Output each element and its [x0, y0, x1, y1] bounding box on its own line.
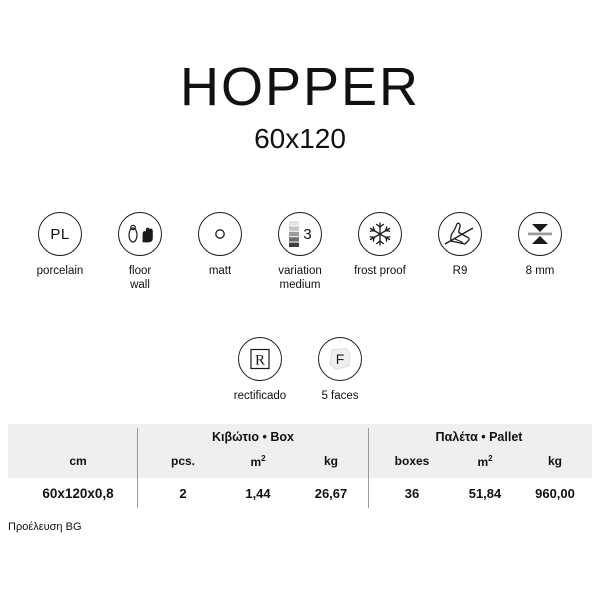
feature-icons-row-secondary: R rectificado F 5 faces — [0, 337, 600, 403]
pallet-m2-exponent: 2 — [488, 454, 492, 463]
feature-icons-row-primary: PL porcelain floor wall matt — [0, 212, 600, 292]
feature-porcelain: PL porcelain — [21, 212, 99, 278]
footprint-hand-icon — [118, 212, 162, 256]
cell-pallet-boxes: 36 — [376, 486, 448, 501]
column-header-box-kg: kg — [296, 454, 366, 468]
feature-slip-resistance: R9 — [421, 212, 499, 278]
product-size-subtitle: 60x120 — [0, 122, 600, 156]
pallet-m2-unit: m — [477, 455, 488, 469]
five-faces-f-icon: F — [318, 337, 362, 381]
box-m2-unit: m — [250, 455, 261, 469]
feature-matt: matt — [181, 212, 259, 278]
svg-text:R: R — [255, 353, 265, 369]
feature-variation: 3 variation medium — [261, 212, 339, 292]
feature-label-frost-proof: frost proof — [354, 264, 406, 278]
cell-pallet-m2: 51,84 — [450, 486, 520, 501]
feature-label-variation: variation medium — [278, 264, 321, 292]
feature-label-five-faces: 5 faces — [321, 389, 358, 403]
column-header-cm: cm — [18, 454, 138, 468]
cell-pallet-kg: 960,00 — [520, 486, 590, 501]
packaging-spec-table: Κιβώτιο • Box Παλέτα • Pallet cm pcs. m2… — [8, 424, 592, 514]
feature-floor-wall: floor wall — [101, 212, 179, 292]
feature-five-faces: F 5 faces — [301, 337, 379, 403]
cell-box-kg: 26,67 — [296, 486, 366, 501]
cell-size-cm: 60x120x0,8 — [18, 486, 138, 501]
pl-badge-text: PL — [50, 226, 69, 243]
column-group-box: Κιβώτιο • Box — [138, 430, 368, 444]
column-header-pallet-boxes: boxes — [376, 454, 448, 468]
svg-text:F: F — [336, 351, 345, 367]
pl-badge-icon: PL — [38, 212, 82, 256]
page-title: HOPPER — [0, 58, 600, 116]
row-divider-box — [137, 478, 138, 508]
header-divider-box — [137, 428, 138, 478]
column-header-box-pcs: pcs. — [148, 454, 218, 468]
feature-label-floor-wall: floor wall — [129, 264, 151, 292]
feature-label-thickness: 8 mm — [526, 264, 555, 278]
table-row: 60x120x0,8 2 1,44 26,67 36 51,84 960,00 — [8, 478, 592, 514]
column-header-pallet-kg: kg — [520, 454, 590, 468]
rectified-r-icon: R — [238, 337, 282, 381]
column-group-pallet: Παλέτα • Pallet — [368, 430, 590, 444]
column-header-pallet-m2: m2 — [450, 454, 520, 469]
row-divider-pallet — [368, 478, 369, 508]
feature-rectified: R rectificado — [221, 337, 299, 403]
box-m2-exponent: 2 — [261, 454, 265, 463]
variation-bars-icon: 3 — [278, 212, 322, 256]
spec-table-header: Κιβώτιο • Box Παλέτα • Pallet cm pcs. m2… — [8, 424, 592, 478]
header-divider-pallet — [368, 428, 369, 478]
feature-label-slip-resistance: R9 — [453, 264, 468, 278]
feature-frost-proof: frost proof — [341, 212, 419, 278]
cell-box-pcs: 2 — [148, 486, 218, 501]
feature-label-porcelain: porcelain — [37, 264, 84, 278]
feature-label-rectified: rectificado — [234, 389, 286, 403]
thickness-arrows-icon — [518, 212, 562, 256]
snowflake-icon — [358, 212, 402, 256]
product-title-block: HOPPER 60x120 — [0, 58, 600, 156]
column-header-box-m2: m2 — [223, 454, 293, 469]
cell-box-m2: 1,44 — [223, 486, 293, 501]
variation-level-number: 3 — [303, 227, 311, 242]
feature-thickness: 8 mm — [501, 212, 579, 278]
origin-note: Προέλευση BG — [8, 521, 82, 533]
matt-circle-icon — [198, 212, 242, 256]
feature-label-matt: matt — [209, 264, 231, 278]
slip-resistance-foot-icon — [438, 212, 482, 256]
